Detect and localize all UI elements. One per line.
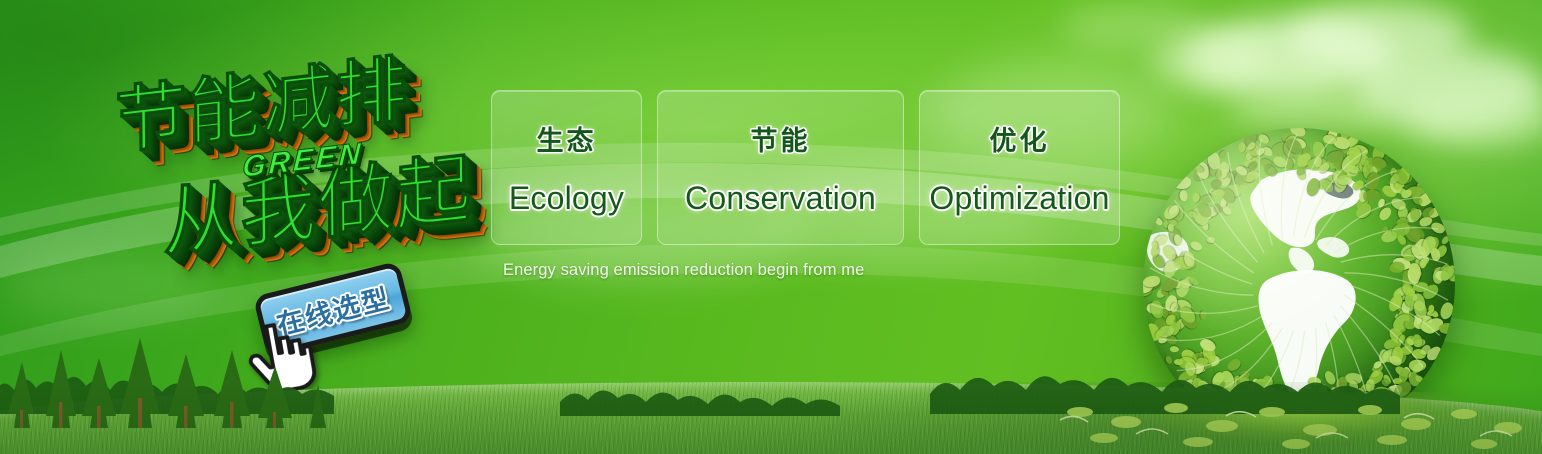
feature-card-cn-label: 节能 (751, 119, 811, 158)
feature-card-optimization[interactable]: 优化 Optimization (919, 90, 1120, 245)
feature-card-ecology[interactable]: 生态 Ecology (491, 90, 642, 245)
feature-card-cn-label: 优化 (990, 119, 1050, 158)
grass-field-icon (0, 382, 1542, 454)
feature-card-en-label: Optimization (929, 180, 1109, 217)
banner-subtitle: Energy saving emission reduction begin f… (503, 261, 864, 280)
feature-card-en-label: Conservation (685, 180, 876, 217)
feature-card-en-label: Ecology (509, 180, 624, 217)
feature-card-conservation[interactable]: 节能 Conservation (657, 90, 904, 245)
feature-card-cn-label: 生态 (537, 119, 597, 158)
green-energy-banner: 节能减排 GREEN 从我做起 在线选型 生态 Ecology 节能 Conse… (0, 0, 1542, 454)
